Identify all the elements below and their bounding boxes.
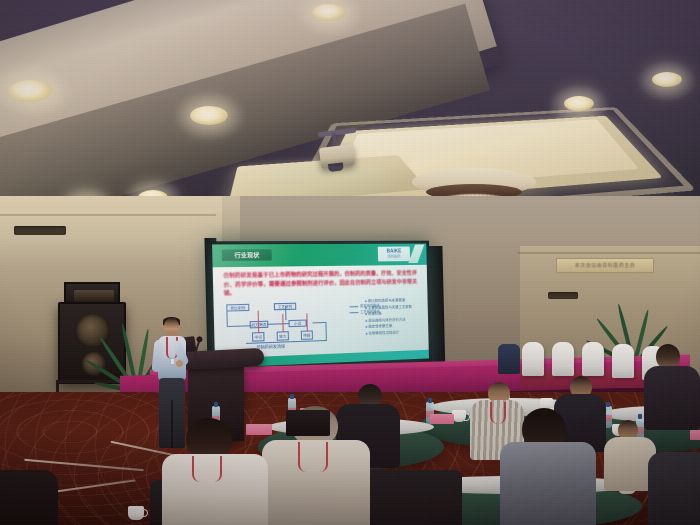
wall-seam-left	[0, 214, 216, 216]
attendee-front-left-lanyard	[192, 456, 222, 482]
downlight-7	[652, 72, 682, 87]
air-vent-right	[548, 292, 578, 299]
flow-box-5: 放大	[277, 331, 289, 341]
attendee-foreground-right-body	[500, 442, 596, 525]
attendee-left-edge-body	[0, 470, 58, 525]
wall-sign-text: 本次会议由百科医药主办	[575, 262, 636, 269]
flow-box-0: 参比制剂	[226, 304, 249, 312]
slide-section-tab: 行业现状	[222, 249, 272, 261]
empty-chair-3[interactable]	[582, 342, 604, 376]
presenter-hand	[176, 360, 183, 367]
empty-chair-4[interactable]	[612, 344, 634, 378]
slide-section-tab-label: 行业现状	[234, 250, 259, 259]
downlight-1	[8, 80, 52, 102]
flow-box-3: 小试	[288, 320, 306, 328]
attendee-bottom-right-body	[648, 452, 700, 525]
downlight-5	[312, 4, 346, 21]
flow-box-4: 中试	[252, 332, 265, 342]
slide-logo: BAIKE 百科医药	[378, 247, 410, 262]
coffee-cup-1[interactable]	[452, 410, 466, 422]
name-card-5	[690, 430, 700, 440]
presenter-badge	[170, 358, 175, 365]
conference-room-photo: 本次会议由百科医药主办 行业现状	[0, 0, 700, 525]
ceiling-projector	[319, 144, 355, 169]
downlight-6	[564, 96, 594, 111]
empty-chair-1[interactable]	[522, 342, 544, 376]
slide-header-bar: 行业现状 BAIKE 百科医药	[212, 244, 427, 268]
slide-logo-slash	[408, 245, 424, 264]
slide-bullets: 参比制剂选择与来源渠道 主要质量属性与关键工艺参数 质量标准 溶出曲线与体外评价…	[365, 297, 420, 337]
attendee-front-left	[162, 418, 268, 525]
bullet-5: 生物等效性试验设计	[365, 329, 420, 337]
slide-red-paragraph: 仿制药研发是基于已上市药物的研究过程开展的，仿制药的质量、疗效、安全性评价、药学…	[223, 270, 417, 299]
name-card-2	[430, 414, 454, 424]
dark-chair-right[interactable]	[498, 344, 520, 374]
downlight-2	[190, 106, 228, 125]
slide-logo-secondary: 百科医药	[387, 254, 400, 259]
attendee-foreground-right	[500, 408, 596, 525]
attendee-bottom-right	[648, 452, 700, 525]
air-vent-left	[14, 226, 66, 235]
attendee-left-edge	[0, 470, 58, 525]
attendee-right-edge	[644, 344, 700, 430]
empty-chair-2[interactable]	[552, 342, 574, 376]
wall-sign: 本次会议由百科医药主办	[556, 258, 654, 273]
slide-flow-diagram: 参比制剂 工艺研究 处方筛选 小试 中试 放大 申报	[224, 302, 345, 354]
coffee-cup-7[interactable]	[128, 506, 144, 520]
attendee-front-center-lanyard	[298, 442, 328, 472]
flow-box-6: 申报	[301, 330, 313, 339]
stage-equipment-case	[286, 410, 330, 436]
wall-seam-right	[518, 252, 700, 254]
